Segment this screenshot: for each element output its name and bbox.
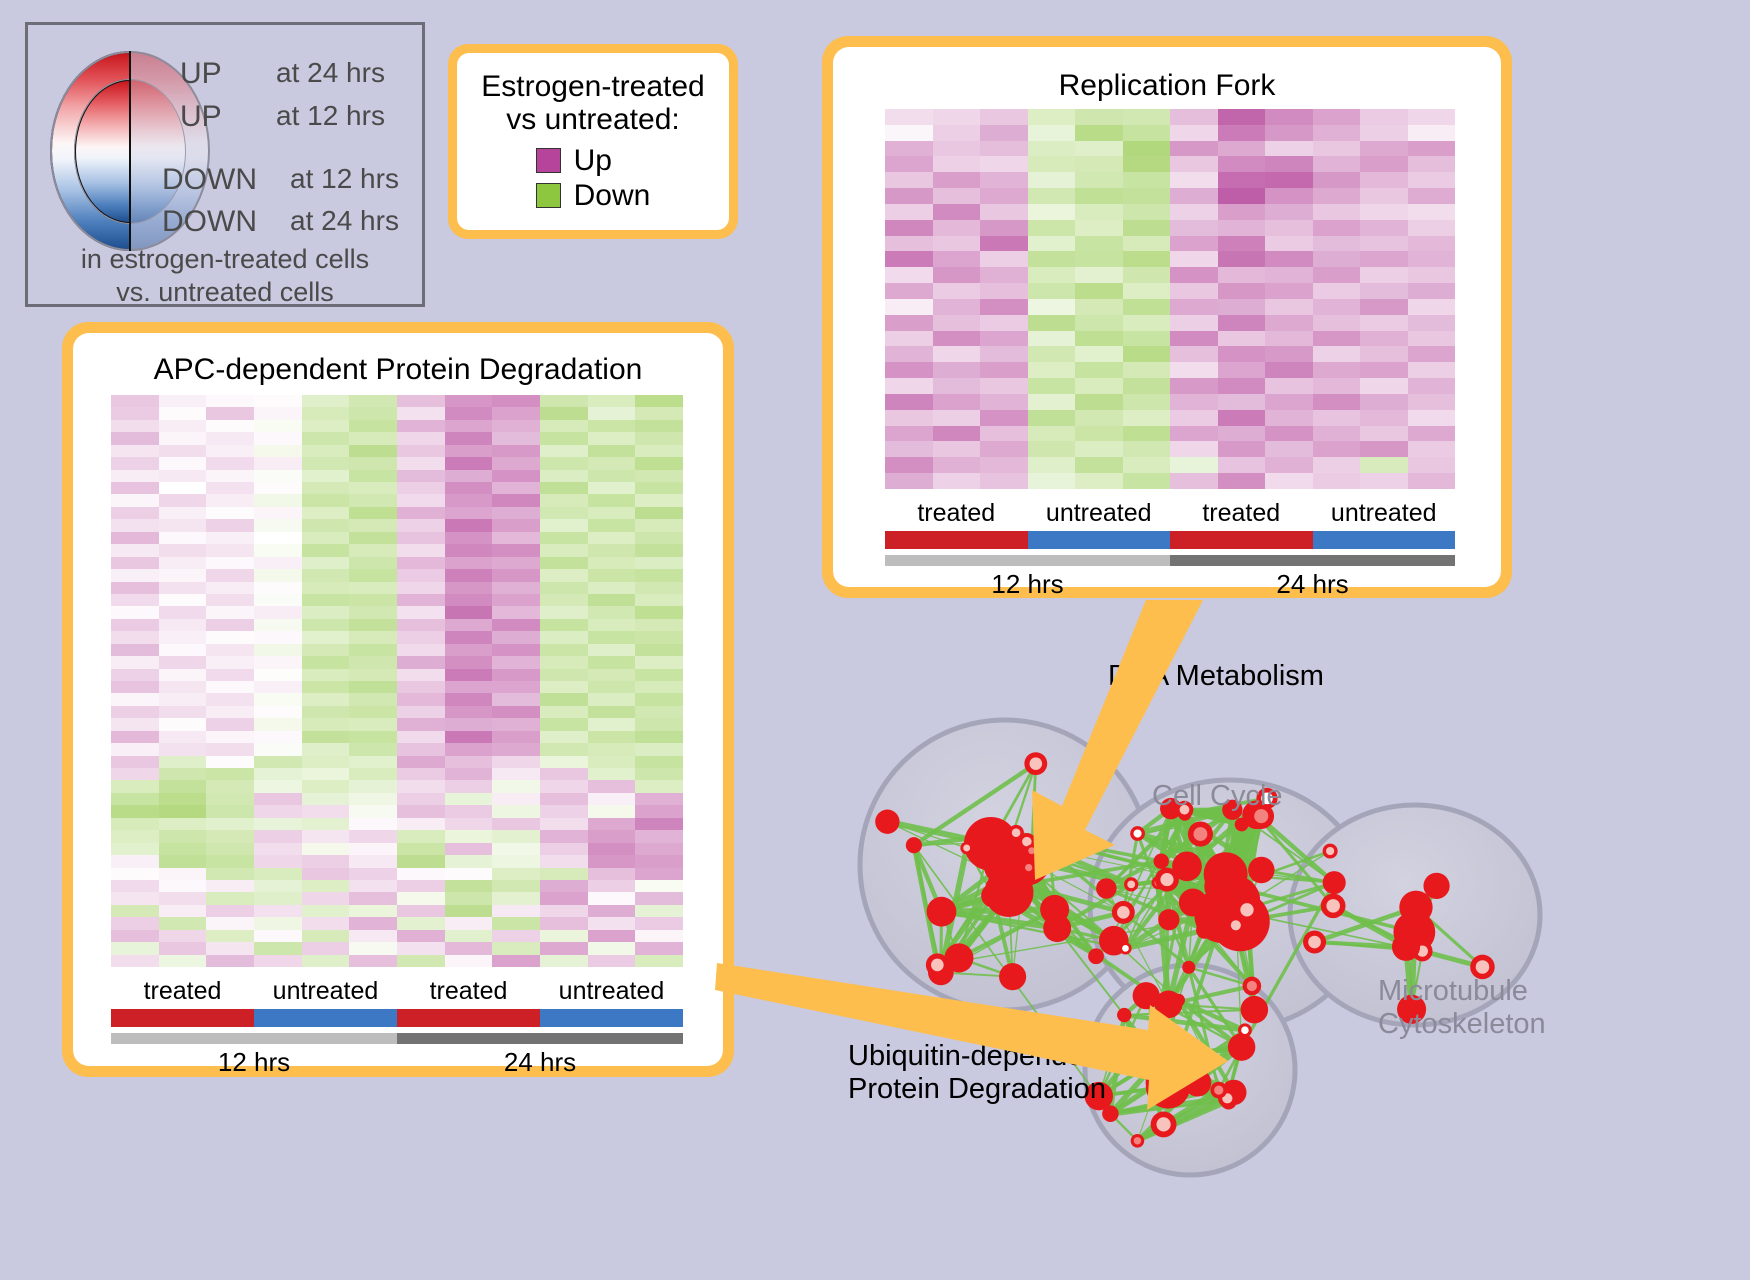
heatmap-cell	[1265, 346, 1313, 362]
heatmap-cell	[980, 378, 1028, 394]
heatmap-cell	[588, 780, 636, 792]
network-node[interactable]	[1172, 994, 1185, 1007]
heatmap-cell	[397, 619, 445, 631]
network-node[interactable]	[1102, 1105, 1119, 1122]
heatmap-cell	[540, 482, 588, 494]
heatmap-cell	[302, 868, 350, 880]
network-node[interactable]	[1117, 1008, 1131, 1022]
network-node[interactable]	[1096, 878, 1117, 899]
heatmap-cell	[540, 569, 588, 581]
heatmap-cell	[635, 606, 683, 618]
legend-when-up-12: at 12 hrs	[276, 100, 385, 132]
heatmap-cell	[1028, 426, 1076, 442]
heatmap-cell	[302, 482, 350, 494]
heatmap-cell	[1028, 315, 1076, 331]
sample-group-label: untreated	[254, 977, 397, 1006]
heatmap-cell	[885, 331, 933, 347]
heatmap-cell	[111, 780, 159, 792]
sample-group-bar-segment	[397, 1009, 540, 1027]
network-node[interactable]	[1248, 857, 1274, 883]
heatmap-cell	[254, 693, 302, 705]
heatmap-cell	[635, 569, 683, 581]
network-node[interactable]	[1041, 841, 1059, 859]
sample-group-label: treated	[397, 977, 540, 1006]
heatmap-cell	[1218, 156, 1266, 172]
heatmap-cell	[349, 718, 397, 730]
heatmap-cell	[1123, 204, 1171, 220]
heatmap-cell	[254, 557, 302, 569]
sample-group-label: treated	[885, 499, 1028, 528]
network-node[interactable]	[999, 963, 1026, 990]
heatmap-cell	[302, 507, 350, 519]
heatmap-cell	[254, 582, 302, 594]
heatmap-cell	[492, 681, 540, 693]
heatmap-cell	[111, 855, 159, 867]
heatmap-cell	[635, 843, 683, 855]
network-node[interactable]	[1011, 876, 1029, 894]
heatmap-cell	[111, 519, 159, 531]
network-node[interactable]	[906, 837, 922, 853]
heatmap-cell	[254, 930, 302, 942]
heatmap-cell	[445, 631, 493, 643]
heatmap-cell	[349, 432, 397, 444]
heatmap-cell	[1408, 283, 1456, 299]
heatmap-cell	[445, 855, 493, 867]
heatmap-cell	[492, 780, 540, 792]
heatmap-cell	[588, 631, 636, 643]
heatmap-cell	[206, 892, 254, 904]
heatmap-cell	[302, 756, 350, 768]
heatmap-cell	[349, 407, 397, 419]
heatmap-cell	[588, 519, 636, 531]
heatmap-cell	[159, 582, 207, 594]
network-node[interactable]	[1392, 933, 1420, 961]
heatmap-cell	[159, 420, 207, 432]
heatmap-cell	[206, 582, 254, 594]
heatmap-cell	[111, 457, 159, 469]
heatmap-cell	[254, 917, 302, 929]
heatmap-cell	[1028, 204, 1076, 220]
network-node[interactable]	[927, 897, 957, 927]
heatmap-cell	[588, 432, 636, 444]
network-node[interactable]	[1184, 1069, 1212, 1097]
heatmap-cell	[1123, 109, 1171, 125]
heatmap-cell	[588, 532, 636, 544]
timepoint-bar-segment	[397, 1033, 683, 1044]
heatmap-cell	[254, 594, 302, 606]
heatmap-cell	[1028, 378, 1076, 394]
heatmap-cell	[254, 407, 302, 419]
heatmap-cell	[1265, 457, 1313, 473]
heatmap-cell	[445, 793, 493, 805]
heatmap-cell	[159, 868, 207, 880]
network-node-core	[1028, 847, 1035, 854]
network-node[interactable]	[1323, 871, 1346, 894]
network-node[interactable]	[981, 884, 1005, 908]
heatmap-cell	[1170, 251, 1218, 267]
heatmap-cell	[1170, 236, 1218, 252]
heatmap-cell	[254, 706, 302, 718]
heatmap-cell	[445, 917, 493, 929]
heatmap-cell	[349, 892, 397, 904]
heatmap-cell	[492, 868, 540, 880]
heatmap-cell	[492, 494, 540, 506]
heatmap-cell	[492, 793, 540, 805]
heatmap-cell	[1028, 156, 1076, 172]
heatmap-cell	[397, 557, 445, 569]
heatmap-cell	[1408, 362, 1456, 378]
network-node[interactable]	[1235, 818, 1249, 832]
heatmap-cell	[540, 669, 588, 681]
heatmap-cell	[540, 868, 588, 880]
network-node[interactable]	[1088, 948, 1104, 964]
heatmap-cell	[302, 420, 350, 432]
heatmap-cell	[397, 780, 445, 792]
heatmap-cell	[397, 905, 445, 917]
heatmap-cell	[1123, 346, 1171, 362]
heatmap-cell	[445, 756, 493, 768]
heatmap-cell	[159, 955, 207, 967]
heatmap-cell	[159, 644, 207, 656]
cluster-label-ubiquitin: Ubiquitin-dependent Protein Degradation	[848, 1040, 1108, 1107]
heatmap-cell	[980, 267, 1028, 283]
heatmap-cell	[933, 394, 981, 410]
heatmap-cell	[635, 407, 683, 419]
network-node[interactable]	[1196, 922, 1213, 939]
heatmap-cell	[1218, 109, 1266, 125]
heatmap-cell	[1075, 457, 1123, 473]
network-node-core	[1012, 828, 1021, 837]
heatmap-cell	[159, 768, 207, 780]
heatmap-cell	[588, 917, 636, 929]
heatmap-cell	[254, 432, 302, 444]
heatmap-cell	[1360, 156, 1408, 172]
heatmap-cell	[635, 706, 683, 718]
heatmap-cell	[397, 420, 445, 432]
heatmap-cell	[397, 830, 445, 842]
heatmap-cell	[635, 519, 683, 531]
heatmap-cell	[588, 507, 636, 519]
network-node[interactable]	[1182, 961, 1195, 974]
network-node[interactable]	[875, 810, 899, 834]
network-node-core	[1326, 899, 1340, 913]
heatmap-cell	[206, 395, 254, 407]
heatmap-cell	[206, 557, 254, 569]
heatmap-cell	[349, 756, 397, 768]
heatmap-cell	[302, 619, 350, 631]
heatmap-cell	[635, 855, 683, 867]
heatmap-cell	[1360, 473, 1408, 489]
heatmap-cell	[540, 818, 588, 830]
heatmap-cell	[445, 494, 493, 506]
heatmap-cell	[397, 955, 445, 967]
heatmap-cell	[397, 470, 445, 482]
heatmap-cell	[980, 299, 1028, 315]
heatmap-cell	[397, 793, 445, 805]
heatmap-cell	[1408, 331, 1456, 347]
heatmap-cell	[397, 594, 445, 606]
heatmap-cell	[254, 644, 302, 656]
heatmap-cell	[980, 426, 1028, 442]
heatmap-cell	[1028, 473, 1076, 489]
heatmap-cell	[492, 457, 540, 469]
heatmap-cell	[349, 482, 397, 494]
heatmap-cell	[111, 557, 159, 569]
heatmap-cell	[1028, 362, 1076, 378]
heatmap-cell	[206, 619, 254, 631]
heatmap-cell	[980, 315, 1028, 331]
network-node[interactable]	[1399, 891, 1432, 924]
heatmap-cell	[1123, 172, 1171, 188]
heatmap-cell	[635, 631, 683, 643]
heatmap-cell	[635, 942, 683, 954]
heatmap-cell	[933, 283, 981, 299]
heatmap-cell	[933, 441, 981, 457]
heatmap-cell	[885, 141, 933, 157]
heatmap-cell	[254, 731, 302, 743]
heatmap-cell	[933, 473, 981, 489]
heatmap-cell	[540, 494, 588, 506]
heatmap-cell	[588, 830, 636, 842]
heatmap-cell	[111, 955, 159, 967]
heatmap-cell	[206, 656, 254, 668]
heatmap-cell	[588, 494, 636, 506]
heatmap-cell	[254, 445, 302, 457]
heatmap-cell	[540, 768, 588, 780]
heatmap-cell	[540, 644, 588, 656]
heatmap-cell	[1360, 331, 1408, 347]
heatmap-cell	[111, 532, 159, 544]
heatmap-cell	[492, 557, 540, 569]
network-node-core	[1160, 873, 1173, 886]
heatmap-cell	[1028, 457, 1076, 473]
heatmap-cell	[588, 606, 636, 618]
heatmap-cell	[885, 188, 933, 204]
heatmap-cell	[1075, 315, 1123, 331]
heatmap-cell	[206, 805, 254, 817]
heatmap-cell	[635, 619, 683, 631]
heatmap-cell	[635, 818, 683, 830]
heatmap-cell	[540, 532, 588, 544]
network-node-core	[1308, 936, 1321, 949]
sample-group-labels-apc: treateduntreatedtreateduntreated	[111, 977, 683, 1006]
heatmap-cell	[1265, 109, 1313, 125]
heatmap-cell	[540, 519, 588, 531]
heatmap-cell	[111, 594, 159, 606]
heatmap-cell	[159, 718, 207, 730]
heatmap-cell	[302, 681, 350, 693]
heatmap-cell	[635, 644, 683, 656]
heatmap-cell	[206, 432, 254, 444]
heatmap-cell	[254, 718, 302, 730]
heatmap-cell	[111, 631, 159, 643]
heatmap-cell	[1265, 283, 1313, 299]
timepoint-bar-segment	[1170, 555, 1455, 566]
network-node[interactable]	[1040, 895, 1069, 924]
network-node-core	[1134, 829, 1142, 837]
heatmap-cell	[397, 644, 445, 656]
heatmap-cell	[349, 594, 397, 606]
heatmap-cell	[492, 930, 540, 942]
heatmap-cell	[933, 236, 981, 252]
heatmap-cell	[349, 855, 397, 867]
heatmap-cell	[492, 445, 540, 457]
heatmap-cell	[397, 892, 445, 904]
heatmap-cell	[1170, 331, 1218, 347]
heatmap-cell	[254, 420, 302, 432]
heatmap-cell	[492, 756, 540, 768]
heatmap-cell	[1313, 156, 1361, 172]
network-node[interactable]	[1228, 1033, 1255, 1060]
heatmap-cell	[1218, 410, 1266, 426]
heatmap-cell	[1028, 188, 1076, 204]
heatmap-cell	[159, 731, 207, 743]
heatmap-cell	[588, 693, 636, 705]
heatmap-cell	[588, 457, 636, 469]
heatmap-cell	[635, 780, 683, 792]
heatmap-cell	[254, 482, 302, 494]
heatmap-cell	[445, 432, 493, 444]
heatmap-cell	[397, 432, 445, 444]
heatmap-cell	[1123, 267, 1171, 283]
heatmap-cell	[159, 930, 207, 942]
heatmap-cell	[159, 793, 207, 805]
heatmap-cell	[588, 905, 636, 917]
updown-legend-box: Estrogen-treated vs untreated: Up Down	[448, 44, 738, 239]
heatmap-cell	[111, 731, 159, 743]
heatmap-cell	[1170, 220, 1218, 236]
heatmap-cell	[885, 220, 933, 236]
legend-when-down-24: at 24 hrs	[290, 205, 399, 237]
heatmap-cell	[254, 793, 302, 805]
heatmap-cell	[980, 362, 1028, 378]
heatmap-cell	[1360, 204, 1408, 220]
heatmap-cell	[980, 220, 1028, 236]
heatmap-cell	[1408, 426, 1456, 442]
heatmap-cell	[1170, 362, 1218, 378]
heatmap-cell	[349, 532, 397, 544]
heatmap-cell	[1313, 299, 1361, 315]
network-node[interactable]	[1423, 873, 1449, 899]
heatmap-cell	[397, 743, 445, 755]
updown-legend-items: Up Down	[536, 143, 651, 214]
heatmap-cell	[159, 507, 207, 519]
heatmap-cell	[980, 125, 1028, 141]
legend-key-down-24: DOWN	[162, 205, 257, 239]
heatmap-cell	[1408, 315, 1456, 331]
network-node[interactable]	[1179, 889, 1207, 917]
network-node[interactable]	[964, 817, 1018, 871]
heatmap-cell	[302, 494, 350, 506]
heatmap-cell	[1218, 473, 1266, 489]
heatmap-cell	[1360, 426, 1408, 442]
heatmap-cell	[980, 394, 1028, 410]
heatmap-cell	[302, 631, 350, 643]
heatmap-cell	[588, 743, 636, 755]
heatmap-cell	[254, 955, 302, 967]
heatmap-cell	[159, 494, 207, 506]
network-node-core	[1134, 1137, 1141, 1144]
heatmap-cell	[635, 669, 683, 681]
heatmap-cell	[159, 606, 207, 618]
heatmap-cell	[540, 557, 588, 569]
heatmap-cell	[254, 631, 302, 643]
heatmap-cell	[254, 606, 302, 618]
heatmap-cell	[1313, 362, 1361, 378]
heatmap-cell	[1218, 331, 1266, 347]
heatmap-cell	[1170, 283, 1218, 299]
heatmap-cell	[206, 718, 254, 730]
heatmap-cell	[254, 569, 302, 581]
network-node-core	[1326, 847, 1334, 855]
heatmap-cell	[540, 930, 588, 942]
heatmap-cell	[885, 457, 933, 473]
network-node[interactable]	[1133, 982, 1160, 1009]
heatmap-cell	[1170, 410, 1218, 426]
heatmap-cell	[397, 519, 445, 531]
heatmap-cell	[885, 236, 933, 252]
heatmap-cell	[540, 793, 588, 805]
network-node[interactable]	[1158, 909, 1179, 930]
heatmap-cell	[302, 470, 350, 482]
heatmap-cell	[588, 544, 636, 556]
heatmap-cell	[1218, 299, 1266, 315]
heatmap-cell	[492, 706, 540, 718]
heatmap-cell	[1360, 346, 1408, 362]
heatmap-cell	[1218, 346, 1266, 362]
heatmap-cell	[540, 880, 588, 892]
heatmap-cell	[1408, 473, 1456, 489]
heatmap-cell	[254, 470, 302, 482]
network-node[interactable]	[1154, 854, 1169, 869]
heatmap-cell	[1265, 204, 1313, 220]
timepoint-label: 12 hrs	[111, 1047, 397, 1078]
heatmap-cell	[588, 395, 636, 407]
heatmap-cell	[159, 706, 207, 718]
legend-item-up: Up	[536, 143, 651, 178]
network-node[interactable]	[1218, 872, 1247, 901]
heatmap-cell	[1028, 283, 1076, 299]
heatmap-cell	[885, 441, 933, 457]
heatmap-cell	[111, 756, 159, 768]
heatmap-cell	[1075, 204, 1123, 220]
timepoint-label: 24 hrs	[1170, 569, 1455, 600]
heatmap-cell	[492, 843, 540, 855]
heatmap-cell	[588, 482, 636, 494]
heatmap-cell	[1218, 220, 1266, 236]
heatmap-cell	[254, 619, 302, 631]
heatmap-cell	[302, 805, 350, 817]
heatmap-cell	[206, 457, 254, 469]
heatmap-cell	[540, 731, 588, 743]
sample-group-bar-segment	[885, 531, 1028, 549]
heatmap-cell	[1360, 125, 1408, 141]
updown-legend-title: Estrogen-treated vs untreated:	[481, 70, 704, 137]
heatmap-cell	[1408, 220, 1456, 236]
heatmap-cell	[111, 892, 159, 904]
network-node[interactable]	[1241, 996, 1269, 1024]
down-color-swatch	[536, 183, 561, 208]
heatmap-cell	[588, 407, 636, 419]
heatmap-cell	[111, 482, 159, 494]
heatmap-cell	[1313, 426, 1361, 442]
heatmap-cell	[159, 619, 207, 631]
heatmap-cell	[540, 594, 588, 606]
heatmap-cell	[933, 220, 981, 236]
heatmap-cell	[159, 905, 207, 917]
heatmap-cell	[111, 395, 159, 407]
heatmap-cell	[1265, 125, 1313, 141]
